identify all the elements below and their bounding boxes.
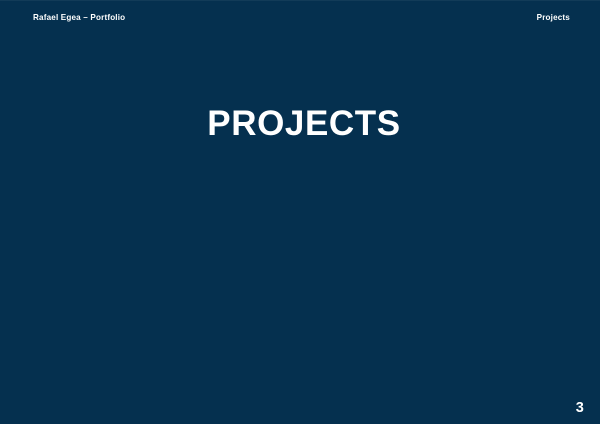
page-title: PROJECTS: [207, 106, 400, 141]
presentation-slide: Rafael Egea – Portfolio Projects PROJECT…: [0, 0, 600, 424]
slide-footer: 3: [576, 401, 584, 416]
page-number: 3: [576, 401, 584, 416]
slide-body: PROJECTS: [0, 0, 600, 424]
